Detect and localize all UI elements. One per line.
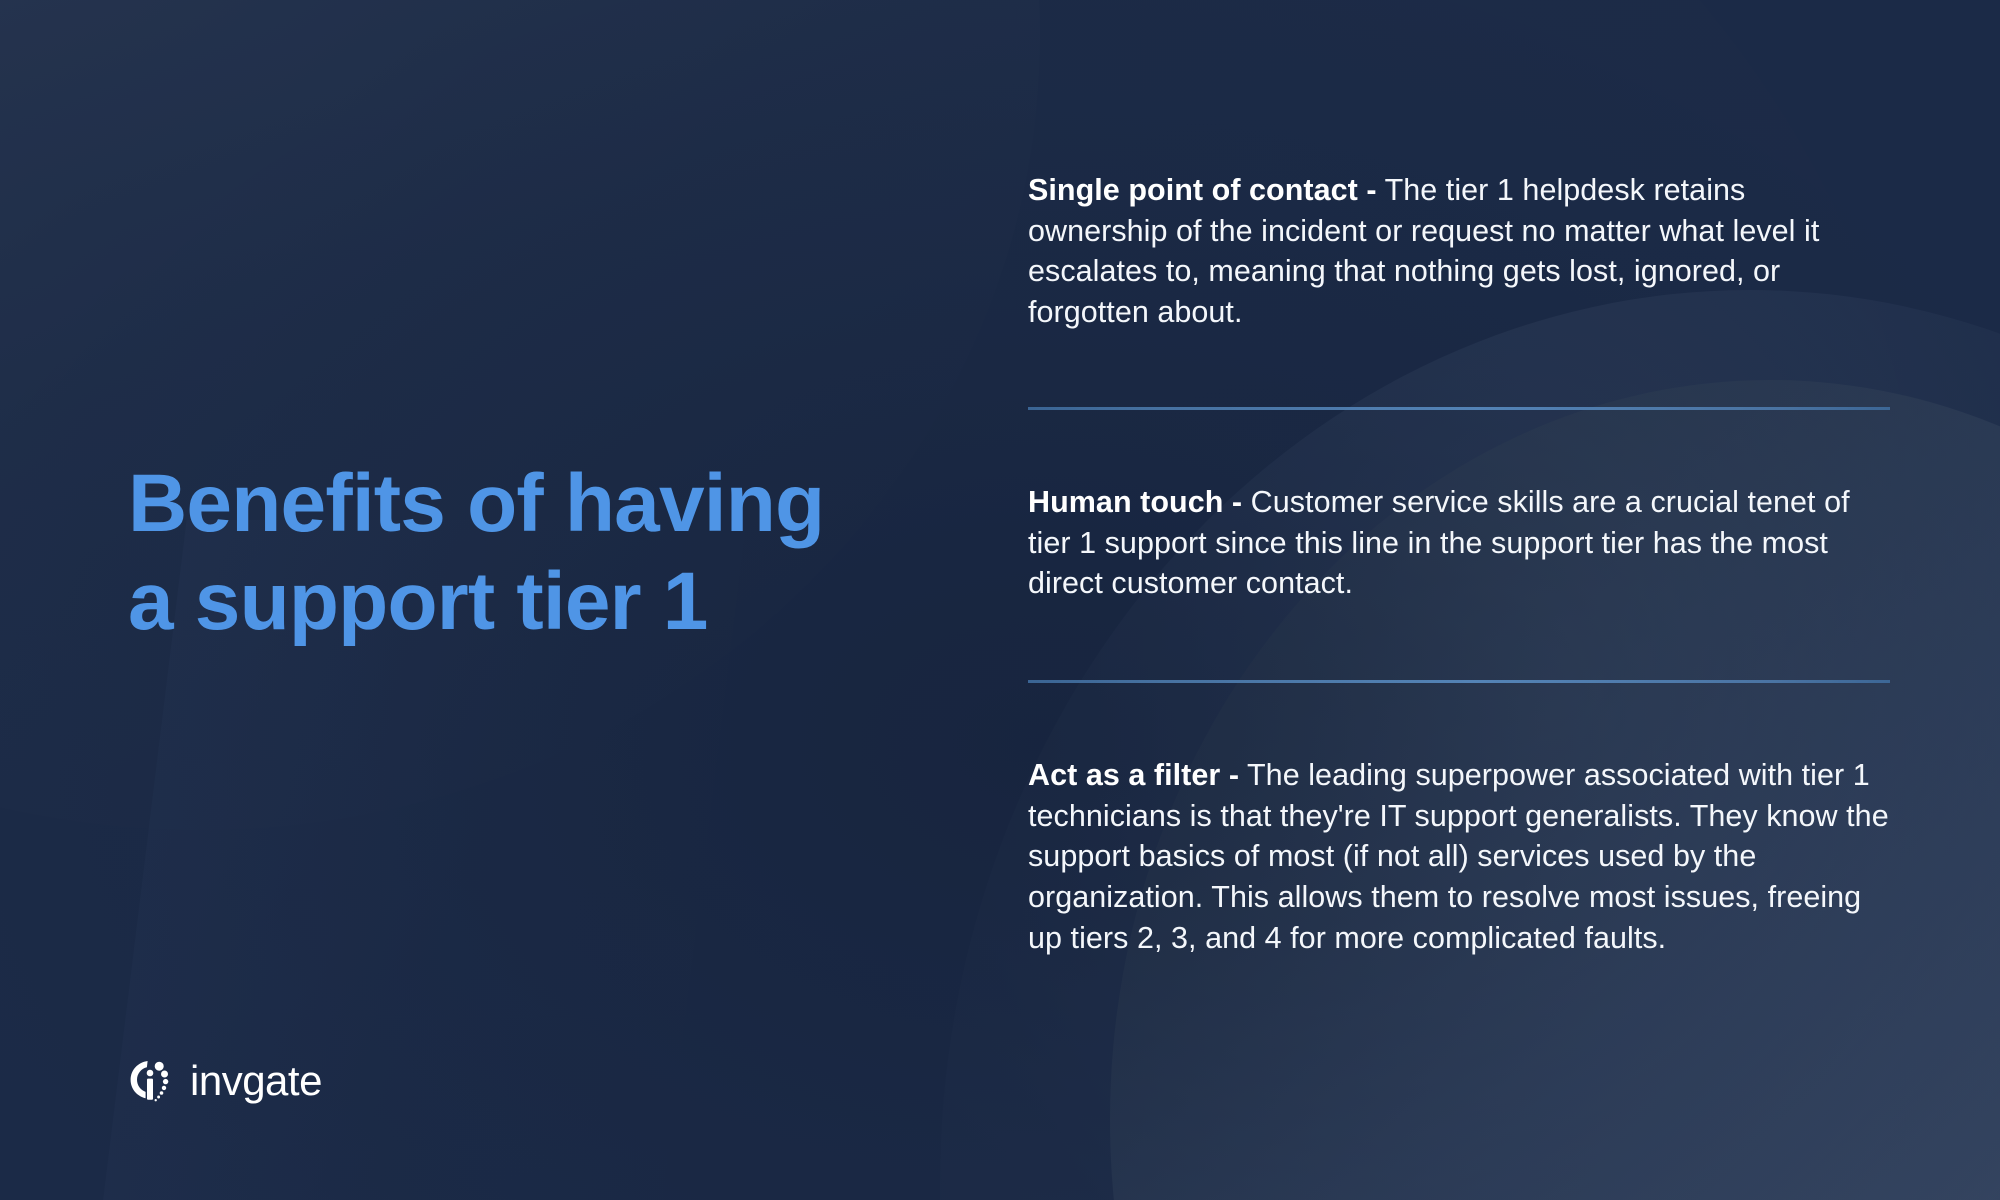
logo: invgate	[128, 1055, 322, 1107]
spacer	[1028, 410, 1890, 482]
benefit-paragraph: Human touch - Customer service skills ar…	[1028, 482, 1890, 604]
spacer	[1028, 683, 1890, 755]
spacer	[1028, 333, 1890, 407]
benefit-term: Act as a filter -	[1028, 758, 1239, 792]
page-title-line-1: Benefits of having	[128, 455, 968, 553]
benefit-divider-2	[1028, 680, 1890, 683]
benefit-term: Single point of contact -	[1028, 173, 1377, 207]
benefit-item-human-touch: Human touch - Customer service skills ar…	[1028, 482, 1890, 604]
page-title-line-2: a support tier 1	[128, 553, 968, 651]
benefit-item-single-point-of-contact: Single point of contact - The tier 1 hel…	[1028, 170, 1890, 333]
slide-content: Benefits of having a support tier 1 Sing…	[0, 0, 2000, 1200]
benefit-term: Human touch -	[1028, 485, 1242, 519]
slide-canvas: Benefits of having a support tier 1 Sing…	[0, 0, 2000, 1200]
spacer	[1028, 604, 1890, 680]
benefit-paragraph: Act as a filter - The leading superpower…	[1028, 755, 1890, 959]
benefit-divider-1	[1028, 407, 1890, 410]
benefit-paragraph: Single point of contact - The tier 1 hel…	[1028, 170, 1890, 333]
logo-wordmark: invgate	[190, 1060, 322, 1102]
benefit-item-act-as-a-filter: Act as a filter - The leading superpower…	[1028, 755, 1890, 959]
benefits-list: Single point of contact - The tier 1 hel…	[1028, 170, 1890, 958]
invgate-footprint-icon	[128, 1055, 176, 1107]
page-title: Benefits of having a support tier 1	[128, 455, 968, 650]
